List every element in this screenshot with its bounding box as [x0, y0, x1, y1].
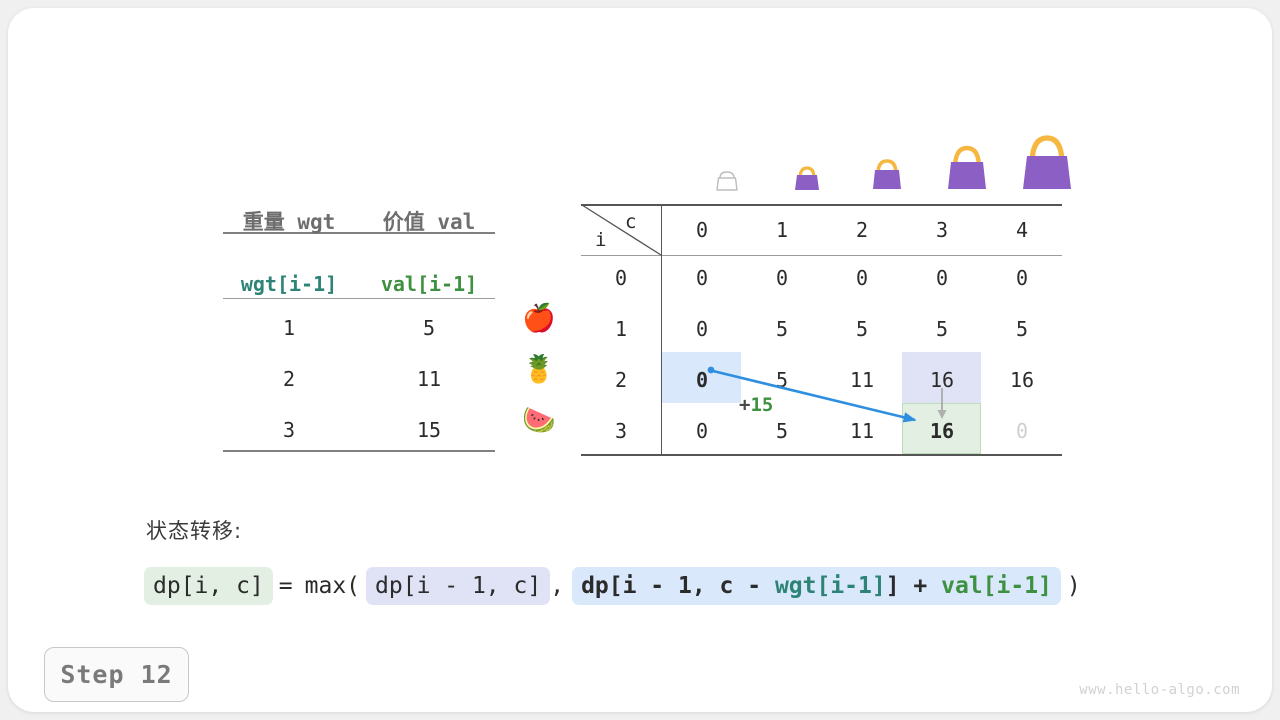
item-table-rule-bottom: [223, 450, 495, 452]
apple-emoji-icon: 🍎: [516, 305, 562, 332]
formula-equals: =: [273, 573, 299, 599]
slide-card: 重量 wgt 价值 val wgt[i-1] val[i-1] 1 5 2 11…: [8, 8, 1272, 712]
step-badge: Step 12: [44, 647, 189, 702]
dp-row-label-0: 0: [581, 266, 661, 290]
dp-cell-2-4: 16: [982, 368, 1062, 392]
gain-sign: +: [739, 394, 750, 416]
formula-max-open: max(: [299, 573, 366, 599]
item-row-2-wgt: 3: [223, 418, 355, 442]
dp-col-header-3: 3: [902, 218, 982, 242]
bag-capacity-row: [661, 126, 1062, 196]
item-subheader-wgt: wgt[i-1]: [223, 272, 355, 296]
formula-arg2-mid: ] +: [886, 573, 941, 599]
dp-col-header-1: 1: [742, 218, 822, 242]
transition-label: 状态转移:: [146, 515, 242, 545]
dp-cell-2-1: 5: [742, 368, 822, 392]
formula-arg2: dp[i - 1, c - wgt[i-1]] + val[i-1]: [572, 567, 1061, 605]
dp-corner-diagonal-icon: [581, 204, 662, 256]
dp-col-header-2: 2: [822, 218, 902, 242]
dp-corner-col-label: c: [625, 211, 636, 233]
dp-row-label-2: 2: [581, 368, 661, 392]
dp-cell-0-3: 0: [902, 266, 982, 290]
dp-cell-0-0: 0: [662, 266, 742, 290]
dp-cell-1-0: 0: [662, 317, 742, 341]
dp-row-label-3: 3: [581, 419, 661, 443]
dp-cell-1-3: 5: [902, 317, 982, 341]
item-header-weight: 重量 wgt: [223, 206, 355, 236]
watermark: www.hello-algo.com: [1079, 682, 1240, 698]
dp-cell-3-3: 16: [902, 419, 982, 443]
bag-icon-m: [927, 140, 1007, 196]
formula-arg2-prefix: dp[i - 1, c -: [581, 573, 775, 599]
dp-col-header-0: 0: [662, 218, 742, 242]
dp-cell-0-2: 0: [822, 266, 902, 290]
item-subheader-val: val[i-1]: [363, 272, 495, 296]
gain-annotation: +15: [739, 394, 773, 416]
transition-formula: dp[i, c] = max( dp[i - 1, c] , dp[i - 1,…: [144, 567, 1087, 605]
item-table-rule-mid: [223, 298, 495, 299]
formula-lhs: dp[i, c]: [144, 567, 273, 605]
dp-cell-2-0: 0: [662, 368, 742, 392]
formula-arg2-wgt: wgt[i-1]: [775, 573, 886, 599]
dp-cell-2-2: 11: [822, 368, 902, 392]
dp-table: c i 0 1 2 3 4 0 0 0 0 0 0 1 0 5 5 5 5 2 …: [581, 204, 1062, 454]
item-row-0-wgt: 1: [223, 316, 355, 340]
watermelon-emoji-icon: 🍉: [516, 407, 562, 434]
dp-cell-3-4: 0: [982, 419, 1062, 443]
dp-row-label-1: 1: [581, 317, 661, 341]
dp-corner-row-label: i: [595, 229, 606, 251]
dp-rule-bottom: [581, 454, 1062, 456]
dp-col-header-4: 4: [982, 218, 1062, 242]
dp-cell-3-0: 0: [662, 419, 742, 443]
formula-arg1: dp[i - 1, c]: [366, 567, 550, 605]
dp-cell-3-1: 5: [742, 419, 822, 443]
dp-cell-1-2: 5: [822, 317, 902, 341]
formula-max-close: ): [1061, 573, 1087, 599]
gain-amount: 15: [750, 394, 773, 416]
pineapple-emoji-icon: 🍍: [516, 356, 562, 383]
item-header-value: 价值 val: [363, 206, 495, 236]
formula-arg2-val: val[i-1]: [941, 573, 1052, 599]
dp-cell-1-1: 5: [742, 317, 822, 341]
bag-icon-xs: [767, 160, 847, 196]
bag-icon-l: [1007, 130, 1087, 196]
item-row-1-wgt: 2: [223, 367, 355, 391]
item-row-2-val: 15: [363, 418, 495, 442]
bag-icon-s: [847, 152, 927, 196]
bag-icon-empty: [687, 168, 767, 196]
dp-cell-0-1: 0: [742, 266, 822, 290]
item-table: 重量 wgt 价值 val wgt[i-1] val[i-1] 1 5 2 11…: [223, 198, 495, 458]
item-row-1-val: 11: [363, 367, 495, 391]
dp-cell-1-4: 5: [982, 317, 1062, 341]
item-row-0-val: 5: [363, 316, 495, 340]
dp-cell-0-4: 0: [982, 266, 1062, 290]
dp-cell-3-2: 11: [822, 419, 902, 443]
down-arrow-icon: [933, 386, 951, 422]
formula-comma: ,: [550, 573, 572, 599]
